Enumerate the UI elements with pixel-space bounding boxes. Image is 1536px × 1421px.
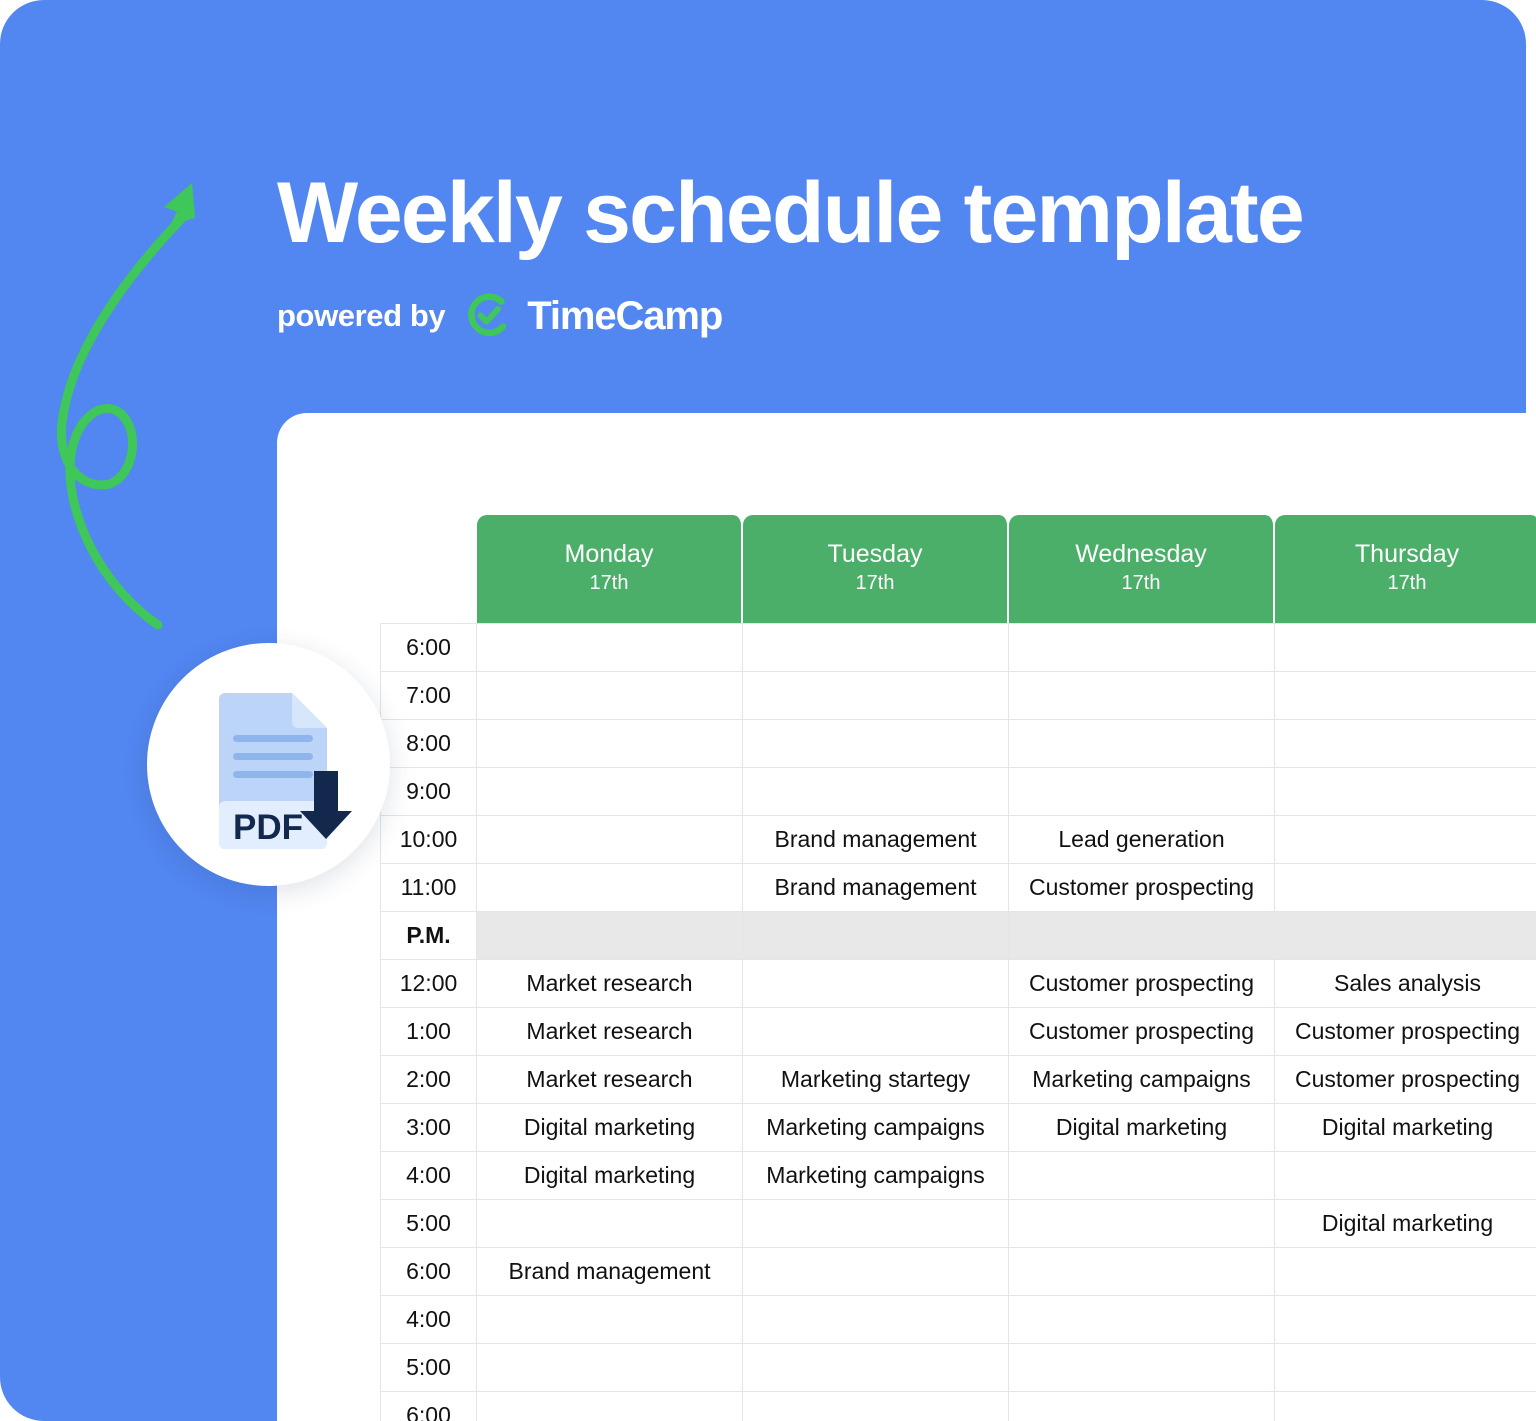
table-row: P.M. xyxy=(380,912,1536,960)
time-label-cell: 12:00 xyxy=(380,960,477,1008)
task-cell[interactable] xyxy=(477,864,743,912)
timecamp-check-circle-icon xyxy=(463,290,515,342)
table-row: 4:00 xyxy=(380,1296,1536,1344)
table-row: 4:00Digital marketingMarketing campaigns xyxy=(380,1152,1536,1200)
task-cell[interactable] xyxy=(743,1008,1009,1056)
task-cell[interactable] xyxy=(477,768,743,816)
task-cell[interactable] xyxy=(477,1344,743,1392)
time-label-cell: 6:00 xyxy=(380,623,477,672)
table-row: 2:00Market researchMarketing startegyMar… xyxy=(380,1056,1536,1104)
table-row: 12:00Market researchCustomer prospecting… xyxy=(380,960,1536,1008)
task-cell[interactable] xyxy=(477,816,743,864)
task-cell[interactable] xyxy=(477,623,743,672)
day-name-label: Tuesday xyxy=(743,540,1007,569)
task-cell[interactable] xyxy=(1275,672,1536,720)
time-label-cell: 4:00 xyxy=(380,1152,477,1200)
time-label-cell: 5:00 xyxy=(380,1200,477,1248)
day-date-label: 17th xyxy=(477,568,741,598)
task-cell[interactable] xyxy=(477,1200,743,1248)
task-cell[interactable] xyxy=(1275,1392,1536,1421)
time-label-cell: 3:00 xyxy=(380,1104,477,1152)
task-cell[interactable] xyxy=(1009,1344,1275,1392)
task-cell[interactable] xyxy=(1009,672,1275,720)
time-label-cell: P.M. xyxy=(380,912,477,960)
task-cell[interactable] xyxy=(1275,1344,1536,1392)
task-cell[interactable] xyxy=(477,672,743,720)
table-row: 8:00 xyxy=(380,720,1536,768)
brand-name: TimeCamp xyxy=(527,294,722,339)
day-header-thursday: Thursday 17th xyxy=(1275,515,1536,623)
table-row: 3:00Digital marketingMarketing campaigns… xyxy=(380,1104,1536,1152)
task-cell[interactable] xyxy=(1275,720,1536,768)
task-cell[interactable] xyxy=(1009,1200,1275,1248)
task-cell[interactable]: Sales analysis xyxy=(1275,960,1536,1008)
task-cell[interactable]: Customer prospecting xyxy=(1275,1056,1536,1104)
task-cell[interactable] xyxy=(743,912,1009,960)
powered-by-row: powered by TimeCamp xyxy=(277,290,722,342)
task-cell[interactable] xyxy=(743,768,1009,816)
task-cell[interactable] xyxy=(1275,816,1536,864)
task-cell[interactable] xyxy=(1275,1152,1536,1200)
task-cell[interactable] xyxy=(1009,720,1275,768)
day-name-label: Thursday xyxy=(1275,540,1536,569)
task-cell[interactable] xyxy=(477,720,743,768)
day-date-label: 17th xyxy=(1009,568,1273,598)
task-cell[interactable] xyxy=(477,1296,743,1344)
table-corner-header xyxy=(380,515,477,623)
page-title: Weekly schedule template xyxy=(277,168,1397,258)
task-cell[interactable] xyxy=(477,1392,743,1421)
schedule-body: 6:007:008:009:0010:00Brand managementLea… xyxy=(380,623,1536,1421)
time-label-cell: 10:00 xyxy=(380,816,477,864)
task-cell[interactable]: Customer prospecting xyxy=(1009,960,1275,1008)
pdf-label: PDF xyxy=(233,808,303,847)
curly-arrow-icon xyxy=(40,155,250,645)
weekly-schedule-table: Monday 17th Tuesday 17th Wednesday 17th … xyxy=(380,515,1536,1421)
task-cell[interactable] xyxy=(743,960,1009,1008)
time-label-cell: 9:00 xyxy=(380,768,477,816)
day-header-tuesday: Tuesday 17th xyxy=(743,515,1009,623)
task-cell[interactable] xyxy=(743,1200,1009,1248)
task-cell[interactable]: Digital marketing xyxy=(1009,1104,1275,1152)
task-cell[interactable] xyxy=(1009,768,1275,816)
task-cell[interactable]: Digital marketing xyxy=(477,1152,743,1200)
table-header-row: Monday 17th Tuesday 17th Wednesday 17th … xyxy=(380,515,1536,623)
powered-by-label: powered by xyxy=(277,298,445,334)
pdf-download-badge[interactable]: PDF xyxy=(147,643,390,886)
task-cell[interactable] xyxy=(1275,1248,1536,1296)
time-label-cell: 11:00 xyxy=(380,864,477,912)
task-cell[interactable]: Marketing startegy xyxy=(743,1056,1009,1104)
time-label-cell: 8:00 xyxy=(380,720,477,768)
task-cell[interactable] xyxy=(743,720,1009,768)
task-cell[interactable]: Market research xyxy=(477,1056,743,1104)
task-cell[interactable]: Lead generation xyxy=(1009,816,1275,864)
task-cell[interactable] xyxy=(743,1296,1009,1344)
time-label-cell: 4:00 xyxy=(380,1296,477,1344)
timecamp-logo: TimeCamp xyxy=(463,290,722,342)
task-cell[interactable]: Digital marketing xyxy=(477,1104,743,1152)
task-cell[interactable]: Customer prospecting xyxy=(1009,864,1275,912)
table-row: 10:00Brand managementLead generation xyxy=(380,816,1536,864)
task-cell[interactable]: Marketing campaigns xyxy=(743,1104,1009,1152)
task-cell[interactable] xyxy=(1275,864,1536,912)
table-row: 6:00 xyxy=(380,623,1536,672)
pdf-download-icon: PDF xyxy=(147,643,390,886)
task-cell[interactable]: Customer prospecting xyxy=(1009,1008,1275,1056)
task-cell[interactable] xyxy=(1275,768,1536,816)
day-header-wednesday: Wednesday 17th xyxy=(1009,515,1275,623)
table-row: 1:00Market researchCustomer prospectingC… xyxy=(380,1008,1536,1056)
task-cell[interactable]: Brand management xyxy=(477,1248,743,1296)
time-label-cell: 6:00 xyxy=(380,1392,477,1421)
table-row: 11:00Brand managementCustomer prospectin… xyxy=(380,864,1536,912)
table-row: 9:00 xyxy=(380,768,1536,816)
time-label-cell: 1:00 xyxy=(380,1008,477,1056)
task-cell[interactable]: Digital marketing xyxy=(1275,1104,1536,1152)
time-label-cell: 5:00 xyxy=(380,1344,477,1392)
table-row: 6:00Brand management xyxy=(380,1248,1536,1296)
task-cell[interactable] xyxy=(1009,623,1275,672)
task-cell[interactable]: Brand management xyxy=(743,864,1009,912)
task-cell[interactable]: Brand management xyxy=(743,816,1009,864)
task-cell[interactable] xyxy=(1275,912,1536,960)
task-cell[interactable] xyxy=(743,1248,1009,1296)
task-cell[interactable]: Marketing campaigns xyxy=(743,1152,1009,1200)
task-cell[interactable]: Digital marketing xyxy=(1275,1200,1536,1248)
day-name-label: Monday xyxy=(477,540,741,569)
task-cell[interactable]: Market research xyxy=(477,960,743,1008)
task-cell[interactable]: Customer prospecting xyxy=(1275,1008,1536,1056)
table-row: 5:00Digital marketing xyxy=(380,1200,1536,1248)
task-cell[interactable] xyxy=(1275,623,1536,672)
task-cell[interactable] xyxy=(1009,912,1275,960)
task-cell[interactable] xyxy=(1009,1152,1275,1200)
task-cell[interactable] xyxy=(477,912,743,960)
task-cell[interactable] xyxy=(1009,1248,1275,1296)
day-date-label: 17th xyxy=(1275,568,1536,598)
day-date-label: 17th xyxy=(743,568,1007,598)
task-cell[interactable] xyxy=(1275,1296,1536,1344)
time-label-cell: 7:00 xyxy=(380,672,477,720)
task-cell[interactable] xyxy=(743,672,1009,720)
time-label-cell: 2:00 xyxy=(380,1056,477,1104)
day-name-label: Wednesday xyxy=(1009,540,1273,569)
day-header-monday: Monday 17th xyxy=(477,515,743,623)
table-row: 6:00 xyxy=(380,1392,1536,1421)
schedule-card: Monday 17th Tuesday 17th Wednesday 17th … xyxy=(277,413,1536,1421)
task-cell[interactable] xyxy=(743,623,1009,672)
task-cell[interactable] xyxy=(743,1392,1009,1421)
task-cell[interactable] xyxy=(1009,1392,1275,1421)
time-label-cell: 6:00 xyxy=(380,1248,477,1296)
task-cell[interactable] xyxy=(743,1344,1009,1392)
table-row: 7:00 xyxy=(380,672,1536,720)
task-cell[interactable] xyxy=(1009,1296,1275,1344)
table-row: 5:00 xyxy=(380,1344,1536,1392)
task-cell[interactable]: Marketing campaigns xyxy=(1009,1056,1275,1104)
task-cell[interactable]: Market research xyxy=(477,1008,743,1056)
